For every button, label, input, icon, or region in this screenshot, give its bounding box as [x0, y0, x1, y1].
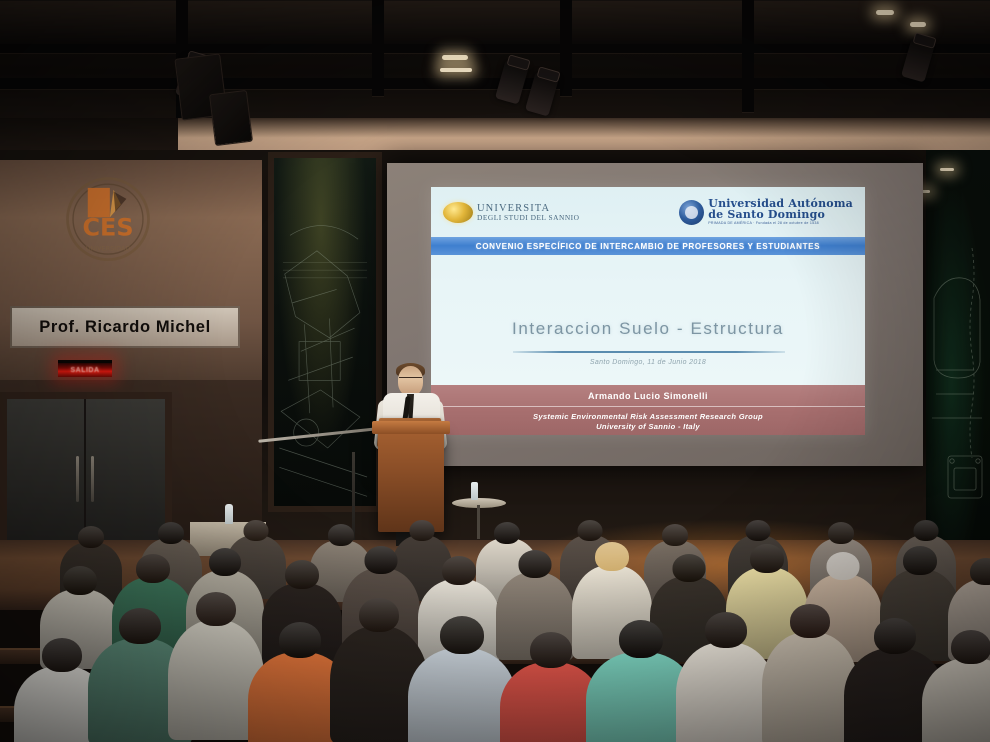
audience-member-torso: [676, 642, 776, 742]
ceiling-light: [876, 10, 894, 15]
audience-member-head: [63, 566, 97, 595]
uasd-line2: de Santo Domingo: [708, 209, 853, 220]
audience-member-head: [673, 554, 706, 582]
presentation-slide: UNIVERSITA DEGLI STUDI DEL SANNIO Univer…: [431, 187, 865, 435]
audience-member-head: [874, 618, 916, 654]
uasd-logo: Universidad Autónoma de Santo Domingo PR…: [679, 198, 853, 226]
unisannio-line1: UNIVERSITA: [477, 203, 579, 214]
wall-nameplate: Prof. Ricardo Michel: [10, 306, 240, 348]
slide-banner: CONVENIO ESPECÍFICO DE INTERCAMBIO DE PR…: [431, 237, 865, 255]
audience-member-head: [119, 608, 161, 644]
audience-member-head: [279, 622, 321, 658]
exit-sign-text: SALIDA: [70, 367, 99, 374]
uasd-line3: PRIMADA DE AMÉRICA · Fundada el 28 de oc…: [708, 222, 853, 226]
audience-member-head: [78, 526, 104, 548]
audience-member-head: [158, 522, 184, 544]
nameplate-text: Prof. Ricardo Michel: [39, 318, 211, 337]
hanging-speaker: [209, 90, 253, 146]
audience-member-head: [410, 520, 435, 541]
wall-spot-light: [940, 168, 954, 171]
audience-member-head: [595, 542, 629, 571]
audience-member-head: [750, 544, 784, 573]
wall-accent-light: [440, 68, 472, 72]
audience-member-head: [530, 632, 572, 668]
audience-member-head: [440, 616, 484, 654]
dark-abstract-mural-left: [268, 152, 382, 512]
svg-text:CES: CES: [82, 214, 133, 242]
door-handle[interactable]: [76, 456, 79, 502]
audience-member-head: [196, 592, 236, 626]
audience-member-head: [790, 604, 830, 638]
universita-sannio-logo: UNIVERSITA DEGLI STUDI DEL SANNIO: [443, 202, 579, 223]
projection-screen: UNIVERSITA DEGLI STUDI DEL SANNIO Univer…: [387, 163, 923, 466]
glasses-icon: [399, 377, 422, 382]
audience-member-head: [970, 558, 990, 585]
audience-member: [676, 612, 776, 742]
audience-member-head: [365, 546, 398, 574]
slide-date: Santo Domingo, 11 de Junio 2018: [431, 359, 865, 366]
audience-member-head: [951, 630, 990, 664]
blue-circular-seal-icon: [679, 200, 704, 225]
slide-affiliation-line2: University of Sannio - Italy: [596, 422, 700, 431]
audience-member-head: [827, 552, 860, 580]
lecture-hall-photo: CES UNIVERSIDAD Prof. Ricardo Michel SAL…: [0, 0, 990, 742]
slide-title-rule: [513, 351, 785, 353]
wooden-podium: [378, 430, 444, 532]
seated-audience: [0, 520, 990, 742]
audience-member-head: [136, 554, 170, 583]
audience-member-torso: [922, 658, 990, 742]
gold-oval-seal-icon: [443, 202, 473, 223]
audience-member-head: [746, 520, 771, 541]
slide-banner-text: CONVENIO ESPECÍFICO DE INTERCAMBIO DE PR…: [476, 242, 820, 251]
dark-green-mural-right: [926, 150, 990, 548]
slide-title: Interaccion Suelo - Estructura: [431, 319, 865, 339]
water-bottle: [471, 482, 478, 500]
ces-logo: CES UNIVERSIDAD: [62, 175, 154, 267]
slide-logo-row: UNIVERSITA DEGLI STUDI DEL SANNIO Univer…: [431, 187, 865, 237]
audience-member-head: [914, 520, 939, 541]
exit-sign: SALIDA: [58, 360, 112, 377]
audience-member-head: [42, 638, 82, 672]
audience-member-head: [705, 612, 747, 648]
audience-member-head: [359, 598, 399, 632]
audience-member-head: [519, 550, 552, 578]
door-handle[interactable]: [91, 456, 94, 502]
slide-affiliation-bar: Systemic Environmental Risk Assessment R…: [431, 407, 865, 435]
unisannio-line2: DEGLI STUDI DEL SANNIO: [477, 214, 579, 222]
slide-author: Armando Lucio Simonelli: [588, 391, 708, 401]
audience-member-head: [328, 524, 354, 546]
audience-member-head: [578, 520, 603, 541]
audience-member-head: [244, 520, 269, 541]
svg-text:UNIVERSIDAD: UNIVERSIDAD: [86, 244, 131, 252]
audience-member-head: [828, 522, 854, 544]
audience-member-head: [903, 546, 937, 575]
audience-member-head: [619, 620, 663, 658]
podium-top: [372, 421, 450, 434]
audience-member: [922, 630, 990, 742]
slide-author-bar: Armando Lucio Simonelli: [431, 385, 865, 407]
audience-member-head: [285, 560, 319, 589]
audience-member-head: [494, 522, 520, 544]
ceiling-light: [442, 55, 468, 60]
audience-member-head: [209, 548, 241, 576]
audience-member-head: [442, 556, 476, 585]
audience-member-head: [662, 524, 688, 546]
ceiling-light: [910, 22, 926, 27]
slide-affiliation-line1: Systemic Environmental Risk Assessment R…: [533, 412, 763, 421]
ceiling: [0, 0, 990, 132]
